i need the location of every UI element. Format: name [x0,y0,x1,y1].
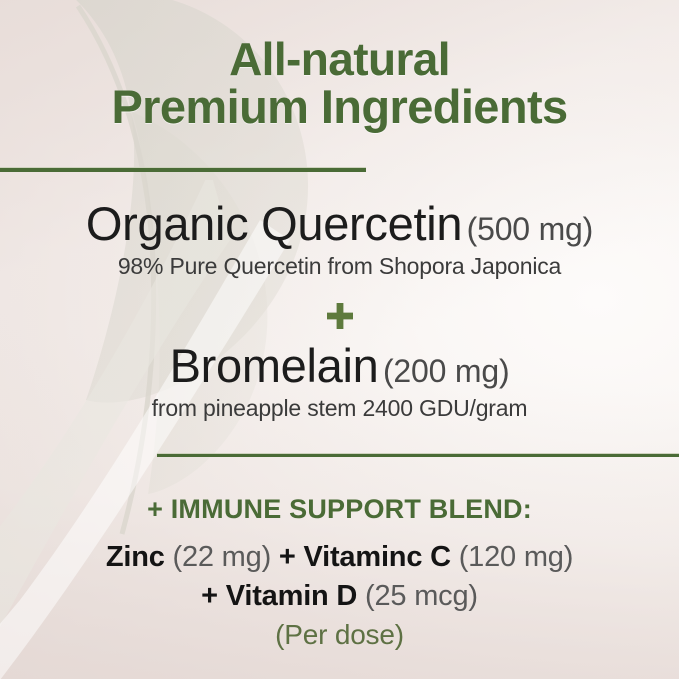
poster-content: All-natural Premium Ingredients Organic … [0,0,679,679]
per-dose-footnote: (Per dose) [0,619,679,651]
blend-item-vitamind-dose: (25 mcg) [365,580,478,612]
ingredient-description: 98% Pure Quercetin from Shopora Japonica [0,252,679,281]
blend-item-vitamind-name: Vitamin D [226,580,357,612]
blend-item-vitaminc-name: Vitaminc C [304,541,451,573]
blend-line-1: Zinc (22 mg) + Vitaminc C (120 mg) [0,538,679,577]
immune-support-blend-list: Zinc (22 mg) + Vitaminc C (120 mg) + Vit… [0,538,679,651]
page-title: All-natural Premium Ingredients [0,36,679,132]
blend-item-vitaminc-dose: (120 mg) [459,541,573,573]
ingredient-title-row: Bromelain (200 mg) [0,341,679,392]
immune-support-blend-heading: + IMMUNE SUPPORT BLEND: [0,494,679,525]
ingredient-dose: (500 mg) [467,211,593,247]
plus-icon [327,303,353,329]
ingredient-name: Bromelain [170,339,379,392]
blend-item-zinc-name: Zinc [106,541,165,573]
ingredient-dose: (200 mg) [383,353,509,389]
blend-connector-2: + [201,580,218,612]
ingredient-bromelain: Bromelain (200 mg) from pineapple stem 2… [0,341,679,423]
ingredient-name: Organic Quercetin [86,197,462,250]
blend-item-zinc-dose: (22 mg) [173,541,272,573]
ingredient-quercetin: Organic Quercetin (500 mg) 98% Pure Quer… [0,199,679,281]
blend-connector-1: + [279,541,296,573]
divider-top [0,167,366,172]
ingredients-poster: All-natural Premium Ingredients Organic … [0,0,679,679]
blend-line-2: + Vitamin D (25 mcg) [0,577,679,616]
ingredient-description: from pineapple stem 2400 GDU/gram [0,394,679,423]
plus-separator [0,303,679,329]
title-line-1: All-natural [0,36,679,83]
title-line-2: Premium Ingredients [0,83,679,131]
ingredient-title-row: Organic Quercetin (500 mg) [0,199,679,250]
divider-middle [157,453,679,457]
